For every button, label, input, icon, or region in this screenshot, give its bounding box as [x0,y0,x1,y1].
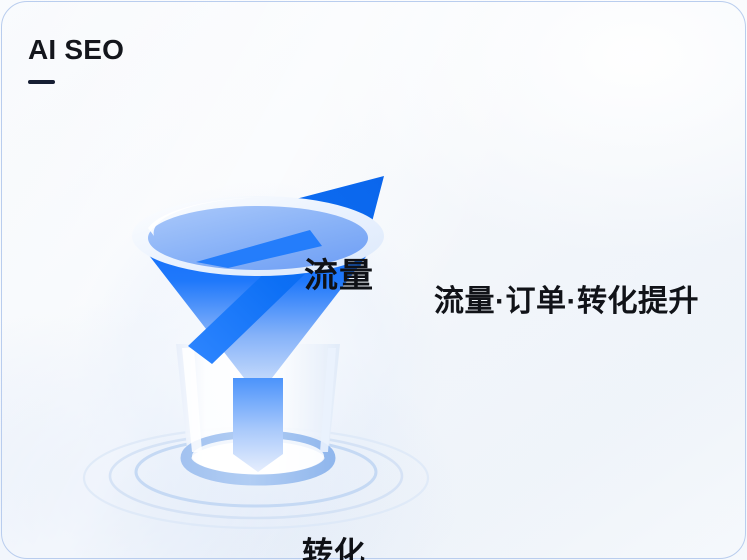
funnel-stem [233,378,283,472]
page-title: AI SEO [28,36,124,64]
funnel-label-traffic: 流量 [304,248,374,297]
funnel-label-conversion: 转化 [302,528,366,560]
funnel-illustration: 流量 转化 [78,96,458,536]
title-underline-rule [28,80,55,84]
branding-block: AI SEO [28,36,124,84]
illustration-canvas: AI SEO 流量·订单·转化提升 [0,0,747,560]
tagline-text: 流量·订单·转化提升 [434,276,699,320]
